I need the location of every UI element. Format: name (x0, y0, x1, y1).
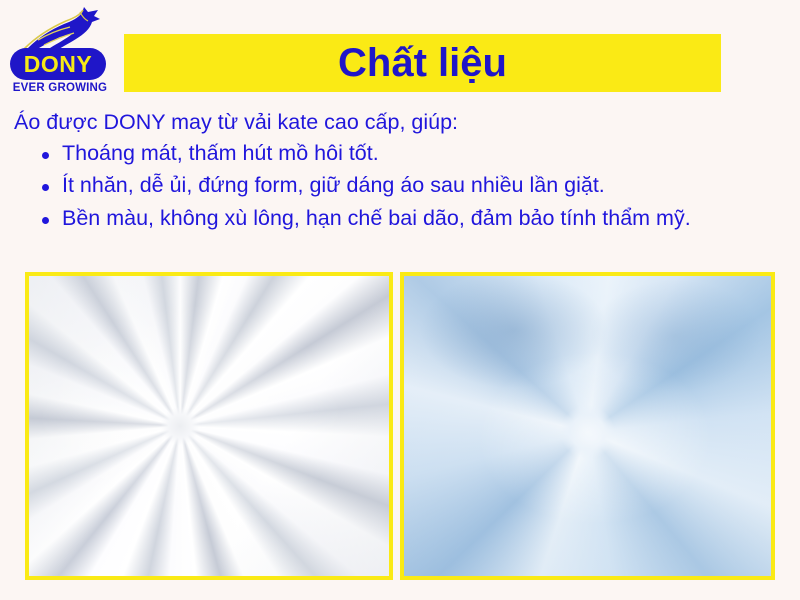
benefits-list: Thoáng mát, thấm hút mồ hôi tốt. Ít nhăn… (14, 143, 794, 230)
photo-frame-white-fabric (25, 272, 393, 580)
bullet-dot-icon (42, 152, 49, 159)
content-block: Áo được DONY may từ vải kate cao cấp, gi… (14, 112, 794, 240)
list-item-label: Ít nhăn, dễ ủi, đứng form, giữ dáng áo s… (62, 173, 605, 197)
bullet-dot-icon (42, 184, 49, 191)
logo-brand-text: DONY (24, 53, 92, 76)
fabric-gallery (25, 272, 775, 580)
list-item-label: Bền màu, không xù lông, hạn chế bai dão,… (62, 206, 691, 230)
bullet-dot-icon (42, 217, 49, 224)
photo-frame-blue-fabric (400, 272, 775, 580)
white-kate-fabric-swirl-image (29, 276, 389, 576)
dony-logo[interactable]: DONY EVER GROWING (6, 4, 118, 102)
logo-brand-pill: DONY (10, 48, 106, 80)
kangaroo-icon (14, 4, 110, 54)
list-item: Bền màu, không xù lông, hạn chế bai dão,… (14, 208, 794, 230)
title-banner: Chất liệu (124, 34, 721, 92)
light-blue-kate-fabric-swirl-image (404, 276, 771, 576)
list-item: Thoáng mát, thấm hút mồ hôi tốt. (14, 143, 794, 165)
logo-tagline: EVER GROWING (10, 83, 110, 95)
list-item-label: Thoáng mát, thấm hút mồ hôi tốt. (62, 141, 379, 165)
intro-line: Áo được DONY may từ vải kate cao cấp, gi… (14, 112, 794, 134)
slide-chat-lieu: DONY EVER GROWING Chất liệu Áo được DONY… (0, 0, 800, 600)
page-title: Chất liệu (338, 42, 507, 84)
list-item: Ít nhăn, dễ ủi, đứng form, giữ dáng áo s… (14, 175, 794, 197)
